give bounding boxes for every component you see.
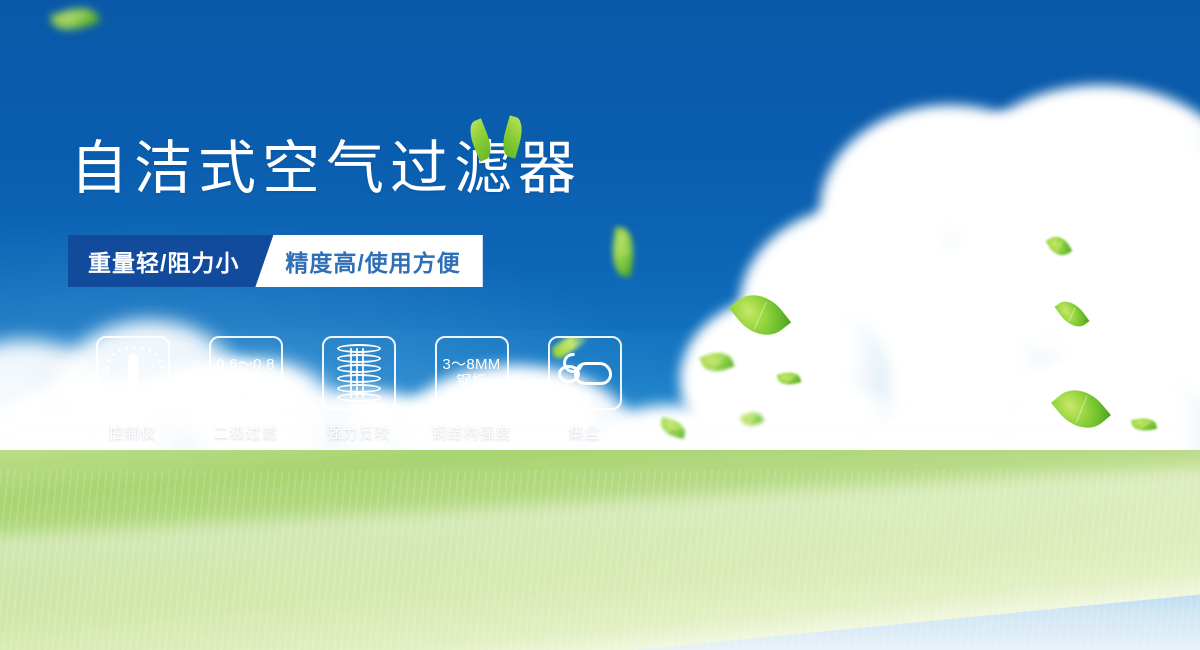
tagline-left: 重量轻/阻力小 (68, 235, 273, 287)
pressure-line-1: 0.6～0.8 (216, 356, 275, 373)
pressure-line-2: MPA (216, 373, 275, 390)
feature-item-back-blow[interactable]: 强力反吹 (302, 336, 415, 443)
feature-label: 钢结构强度 (431, 422, 511, 443)
grass-texture (0, 470, 1200, 650)
steel-thickness-text-icon: 3～8MM 钢板 (442, 356, 500, 391)
feature-label: 强力反吹 (326, 422, 390, 443)
leaf-icon (777, 370, 801, 388)
feature-item-dust-collection[interactable]: Air 集尘 (528, 336, 641, 443)
gauge-label-off: OFF (148, 392, 162, 398)
tagline-right: 精度高/使用方便 (255, 235, 482, 287)
feature-icon-box: 3～8MM 钢板 (435, 336, 509, 410)
gauge-icon: NO OFF (102, 342, 164, 404)
sprout-leaf-left-icon (465, 118, 496, 161)
grass-field (0, 450, 1200, 650)
feature-label: 二级过滤 (213, 422, 277, 443)
feature-item-controller[interactable]: NO OFF 控制仪 (76, 336, 189, 443)
gauge-label-no: NO (102, 368, 112, 374)
big-cloud-icon (574, 362, 612, 385)
coil-filter-icon (337, 344, 381, 402)
pressure-text-icon: 0.6～0.8 MPA (216, 356, 275, 391)
feature-label: 控制仪 (108, 422, 156, 443)
tagline-bar: 重量轻/阻力小 精度高/使用方便 (68, 235, 483, 287)
steel-line-1: 3～8MM (442, 356, 500, 373)
feature-icon-box: NO OFF (96, 336, 170, 410)
feature-icon-box: 0.6～0.8 MPA (209, 336, 283, 410)
feature-item-two-stage-filter[interactable]: 0.6～0.8 MPA 二级过滤 (189, 336, 302, 443)
feature-icon-box (322, 336, 396, 410)
air-cloud-icon: Air (556, 347, 614, 399)
gauge-needle-icon (128, 354, 138, 392)
feature-icon-box: Air (548, 336, 622, 410)
feature-item-steel-strength[interactable]: 3～8MM 钢板 钢结构强度 (415, 336, 528, 443)
product-banner: 自洁式空气过滤器 重量轻/阻力小 精度高/使用方便 (0, 0, 1200, 650)
feature-list: NO OFF 控制仪 0.6～0.8 MPA 二级过滤 (76, 336, 641, 443)
sprout-leaves-icon (466, 112, 536, 164)
steel-line-2: 钢板 (442, 373, 500, 390)
feature-label: 集尘 (568, 422, 600, 443)
sprout-leaf-right-icon (499, 115, 526, 158)
air-label: Air (556, 391, 614, 403)
